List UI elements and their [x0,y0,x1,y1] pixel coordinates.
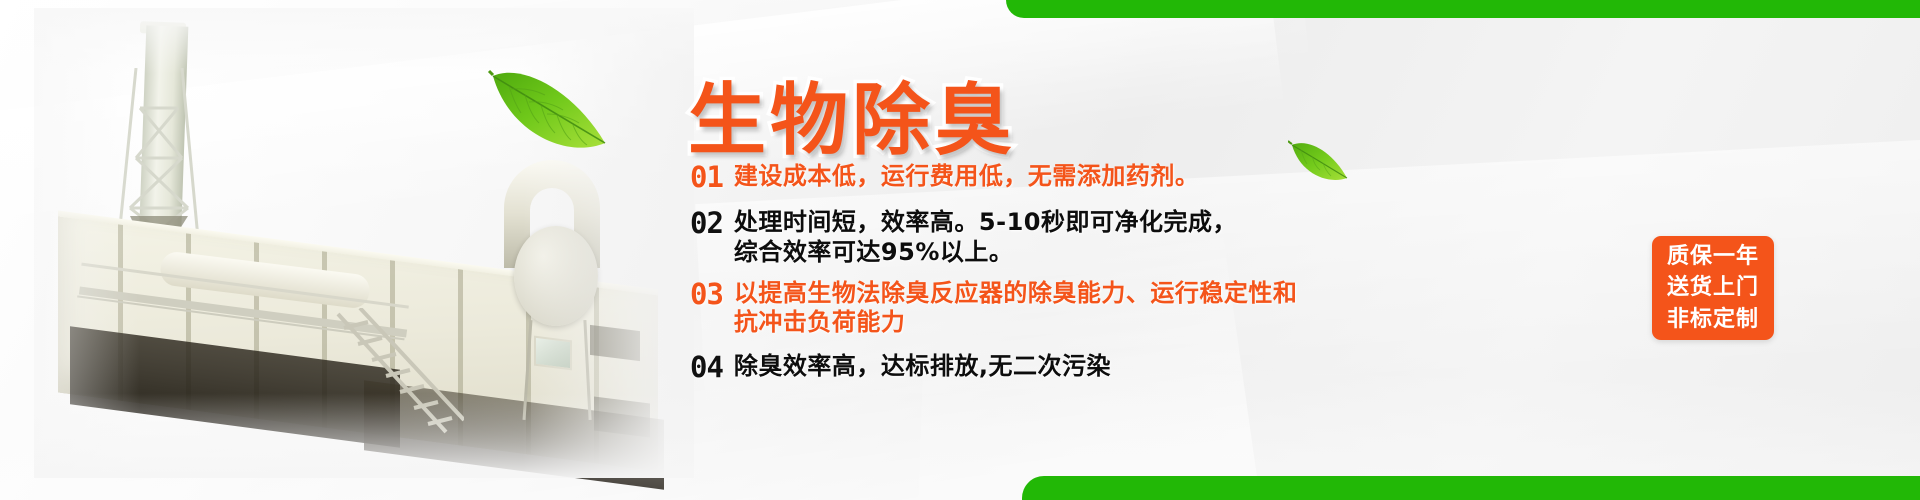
feature-text-01: 建设成本低，运行费用低，无需添加药剂。 [734,162,1200,191]
feature-number-02: 02 [690,208,723,238]
feature-line: 建设成本低，运行费用低，无需添加药剂。 [734,162,1200,191]
green-bar-top [1006,0,1920,18]
page-title: 生物除臭 [688,58,1016,170]
feature-item-04: 04 除臭效率高，达标排放,无二次污染 [690,352,1310,382]
feature-item-03: 03 以提高生物法除臭反应器的除臭能力、运行稳定性和 抗冲击负荷能力 [690,279,1310,338]
feature-line: 抗冲击负荷能力 [734,308,1298,337]
badge-line-custom: 非标定制 [1667,304,1759,335]
feature-line: 处理时间短，效率高。5-10秒即可净化完成， [734,208,1237,237]
feature-number-04: 04 [690,352,723,382]
feature-number-01: 01 [690,162,723,192]
feature-text-04: 除臭效率高，达标排放,无二次污染 [734,352,1111,381]
promo-banner: 生物除臭 01 建设成本低，运行费用低，无需添加药剂。 02 处理时间短，效率高… [0,0,1920,500]
feature-line: 综合效率可达95%以上。 [734,238,1237,267]
feature-number-03: 03 [690,279,723,309]
feature-list: 01 建设成本低，运行费用低，无需添加药剂。 02 处理时间短，效率高。5-10… [690,162,1310,390]
feature-text-02: 处理时间短，效率高。5-10秒即可净化完成， 综合效率可达95%以上。 [734,208,1237,267]
feature-item-01: 01 建设成本低，运行费用低，无需添加药剂。 [690,162,1310,192]
badge-line-delivery: 送货上门 [1667,272,1759,303]
service-badge: 质保一年 送货上门 非标定制 [1652,236,1774,340]
feature-line: 除臭效率高，达标排放,无二次污染 [734,352,1111,381]
leaf-icon-large [487,55,612,165]
badge-line-warranty: 质保一年 [1667,241,1759,272]
green-bar-bottom [1022,476,1920,500]
feature-item-02: 02 处理时间短，效率高。5-10秒即可净化完成， 综合效率可达95%以上。 [690,208,1310,267]
feature-line: 以提高生物法除臭反应器的除臭能力、运行稳定性和 [734,279,1298,308]
feature-text-03: 以提高生物法除臭反应器的除臭能力、运行稳定性和 抗冲击负荷能力 [734,279,1298,338]
